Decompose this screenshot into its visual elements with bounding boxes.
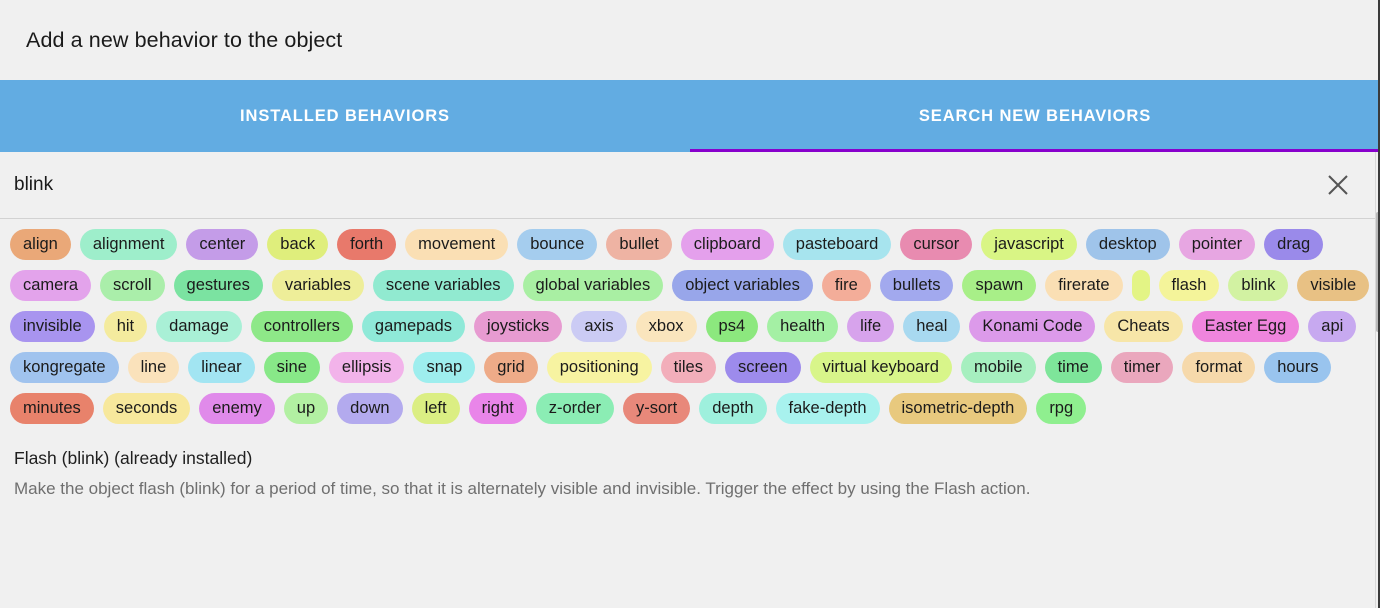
tag-chip[interactable]: movement (405, 229, 508, 260)
tag-chip[interactable]: snap (413, 352, 475, 383)
tag-chip[interactable]: grid (484, 352, 538, 383)
search-input[interactable] (14, 165, 1316, 205)
tag-chip[interactable]: down (337, 393, 402, 424)
tag-chip[interactable]: api (1308, 311, 1356, 342)
behavior-result-title: Flash (blink) (already installed) (14, 448, 1366, 469)
tag-chip[interactable]: visible (1297, 270, 1369, 301)
tag-chip[interactable]: format (1182, 352, 1255, 383)
tag-chip[interactable]: forth (337, 229, 396, 260)
tag-chip[interactable]: back (267, 229, 328, 260)
tag-chip[interactable]: sine (264, 352, 320, 383)
tag-chip[interactable]: hit (104, 311, 147, 342)
tag-chip[interactable]: flash (1159, 270, 1220, 301)
tag-chip[interactable]: screen (725, 352, 801, 383)
tag-cloud: alignalignmentcenterbackforthmovementbou… (0, 219, 1380, 428)
page-title: Add a new behavior to the object (26, 28, 342, 53)
tag-chip[interactable]: desktop (1086, 229, 1170, 260)
add-behavior-dialog: Add a new behavior to the object INSTALL… (0, 0, 1380, 608)
tag-chip[interactable]: spawn (962, 270, 1036, 301)
tab-installed-behaviors-label: INSTALLED BEHAVIORS (240, 107, 450, 126)
tag-chip[interactable]: left (412, 393, 460, 424)
tag-chip[interactable]: life (847, 311, 894, 342)
tag-chip[interactable]: pointer (1179, 229, 1255, 260)
tag-chip[interactable]: bullets (880, 270, 954, 301)
search-results-area: alignalignmentcenterbackforthmovementbou… (0, 219, 1380, 608)
tag-chip[interactable]: virtual keyboard (810, 352, 952, 383)
tag-chip[interactable]: y-sort (623, 393, 690, 424)
tag-chip[interactable]: up (284, 393, 328, 424)
behavior-result-item[interactable]: Flash (blink) (already installed) Make t… (0, 428, 1380, 500)
tag-chip[interactable]: ps4 (706, 311, 759, 342)
tag-chip[interactable]: kongregate (10, 352, 119, 383)
tag-chip[interactable]: scene variables (373, 270, 514, 301)
tag-chip[interactable]: health (767, 311, 838, 342)
tag-chip[interactable]: time (1045, 352, 1102, 383)
tag-chip[interactable]: object variables (672, 270, 813, 301)
tag-chip[interactable]: linear (188, 352, 254, 383)
tag-chip[interactable]: xbox (636, 311, 697, 342)
tag-chip[interactable]: isometric-depth (889, 393, 1028, 424)
tag-chip[interactable]: javascript (981, 229, 1077, 260)
tag-chip[interactable]: minutes (10, 393, 94, 424)
tag-chip[interactable]: bullet (606, 229, 671, 260)
tag-chip[interactable]: gamepads (362, 311, 465, 342)
tab-bar: INSTALLED BEHAVIORS SEARCH NEW BEHAVIORS (0, 80, 1380, 152)
tag-chip[interactable]: invisible (10, 311, 95, 342)
tag-chip[interactable]: fire (822, 270, 871, 301)
tag-chip[interactable]: Cheats (1104, 311, 1182, 342)
tag-chip[interactable]: line (128, 352, 180, 383)
tag-chip[interactable]: hours (1264, 352, 1331, 383)
tag-chip[interactable]: drag (1264, 229, 1323, 260)
tag-chip[interactable]: firerate (1045, 270, 1122, 301)
tag-chip[interactable]: joysticks (474, 311, 562, 342)
tag-chip[interactable]: depth (699, 393, 766, 424)
tag-chip[interactable]: blink (1228, 270, 1288, 301)
tag-chip[interactable]: camera (10, 270, 91, 301)
tag-chip[interactable]: scroll (100, 270, 165, 301)
tag-chip[interactable]: center (186, 229, 258, 260)
tag-chip[interactable]: bounce (517, 229, 597, 260)
tag-chip[interactable]: timer (1111, 352, 1174, 383)
tag-chip[interactable]: variables (272, 270, 364, 301)
tag-chip[interactable] (1132, 270, 1150, 301)
tag-chip[interactable]: Easter Egg (1192, 311, 1300, 342)
tag-chip[interactable]: Konami Code (969, 311, 1095, 342)
search-bar (0, 152, 1380, 219)
tag-chip[interactable]: positioning (547, 352, 652, 383)
tag-chip[interactable]: pasteboard (783, 229, 892, 260)
tab-search-new-behaviors[interactable]: SEARCH NEW BEHAVIORS (690, 80, 1380, 152)
tag-chip[interactable]: z-order (536, 393, 614, 424)
tag-chip[interactable]: ellipsis (329, 352, 405, 383)
tag-chip[interactable]: seconds (103, 393, 190, 424)
tag-chip[interactable]: gestures (174, 270, 263, 301)
clear-search-button[interactable] (1316, 163, 1360, 207)
dialog-header: Add a new behavior to the object (0, 0, 1380, 80)
tag-chip[interactable]: cursor (900, 229, 972, 260)
tag-chip[interactable]: global variables (523, 270, 664, 301)
tag-chip[interactable]: damage (156, 311, 242, 342)
tag-chip[interactable]: heal (903, 311, 960, 342)
tag-chip[interactable]: axis (571, 311, 626, 342)
close-icon (1325, 172, 1351, 198)
tag-chip[interactable]: enemy (199, 393, 275, 424)
tab-installed-behaviors[interactable]: INSTALLED BEHAVIORS (0, 80, 690, 152)
tag-chip[interactable]: fake-depth (776, 393, 880, 424)
tag-chip[interactable]: alignment (80, 229, 178, 260)
tag-chip[interactable]: clipboard (681, 229, 774, 260)
tag-chip[interactable]: mobile (961, 352, 1036, 383)
tag-chip[interactable]: align (10, 229, 71, 260)
tag-chip[interactable]: controllers (251, 311, 353, 342)
tag-chip[interactable]: right (469, 393, 527, 424)
tag-chip[interactable]: rpg (1036, 393, 1086, 424)
behavior-result-description: Make the object flash (blink) for a peri… (14, 478, 1366, 500)
tab-search-new-behaviors-label: SEARCH NEW BEHAVIORS (919, 107, 1151, 126)
tag-chip[interactable]: tiles (661, 352, 716, 383)
